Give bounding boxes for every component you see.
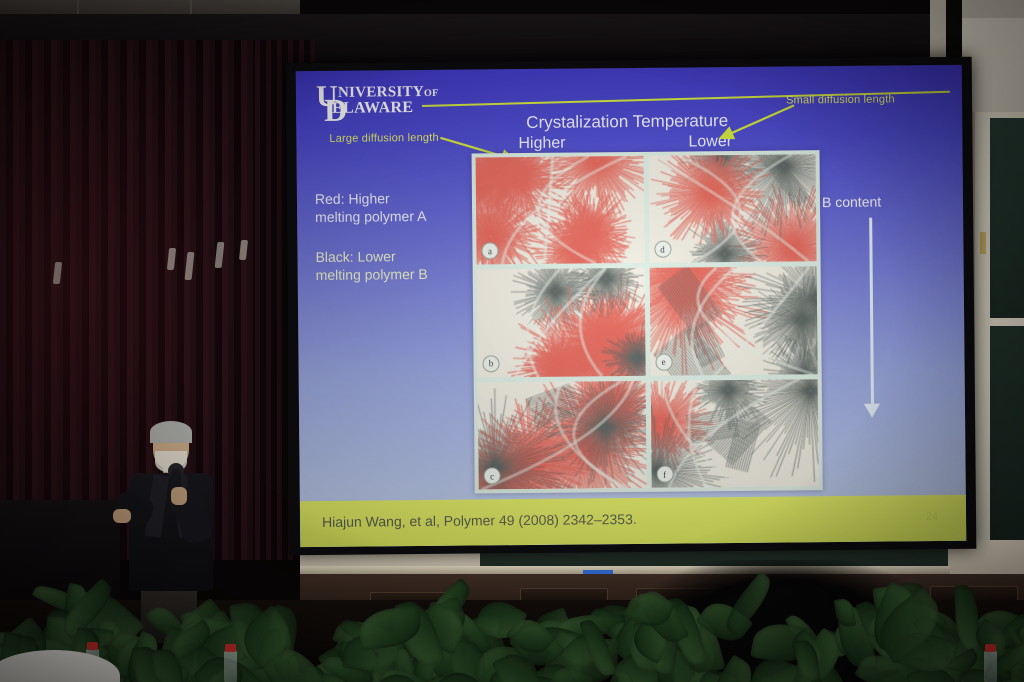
logo-line-delaware: ELAWARE [332, 99, 413, 118]
citation-text: Hiajun Wang, et al, Polymer 49 (2008) 23… [322, 511, 637, 530]
presenter-hair [150, 421, 192, 443]
micrograph-grid: a d b e c [472, 150, 823, 493]
bottle-cap [985, 644, 996, 652]
b-content-arrow-shaft [869, 218, 874, 410]
slide-number: 24 [926, 511, 938, 523]
lecture-hall-photo: U D NIVERSITYOF ELAWARE Crystalization T… [0, 0, 1024, 682]
panel-label: d [654, 241, 671, 258]
legend-red-line1: Red: Higher [315, 190, 390, 207]
micrograph-panel: a [476, 156, 645, 265]
water-bottle [224, 650, 237, 682]
panel-label: e [655, 353, 672, 370]
b-content-label: B content [822, 194, 881, 211]
micrograph-panel: f [650, 379, 819, 488]
b-content-arrow-head-icon [864, 404, 880, 418]
presenter [113, 425, 223, 625]
legend-black-line1: Black: Lower [315, 248, 395, 265]
door-glass-lower [990, 326, 1024, 552]
panel-label: c [484, 467, 501, 484]
water-bottle [984, 650, 997, 682]
bottle-cap [225, 644, 236, 652]
micrograph-panel: e [649, 267, 818, 376]
door-handle[interactable] [980, 232, 986, 254]
legend-black-line2: melting polymer B [316, 266, 428, 283]
presentation-slide: U D NIVERSITYOF ELAWARE Crystalization T… [296, 65, 967, 547]
presenter-hand-left [113, 509, 131, 523]
micrograph-panel: c [478, 381, 647, 490]
citation-band: Hiajun Wang, et al, Polymer 49 (2008) 23… [300, 495, 966, 547]
panel-label: f [656, 466, 673, 483]
arrow-right-to-lower [714, 102, 800, 147]
panel-label: b [482, 355, 499, 372]
annotation-large-diffusion-length: Large diffusion length [329, 132, 439, 145]
projection-screen: U D NIVERSITYOF ELAWARE Crystalization T… [286, 57, 977, 556]
annotation-small-diffusion-length: Small diffusion length [786, 93, 895, 106]
micrograph-panel: b [477, 268, 646, 377]
presenter-hand-right [171, 487, 187, 505]
door-glass-upper [990, 118, 1024, 318]
bottle-cap [87, 642, 98, 650]
micrograph-panel: d [648, 154, 817, 263]
slide-title: Crystalization Temperature [526, 111, 728, 133]
legend-red-line2: melting polymer A [315, 208, 426, 225]
